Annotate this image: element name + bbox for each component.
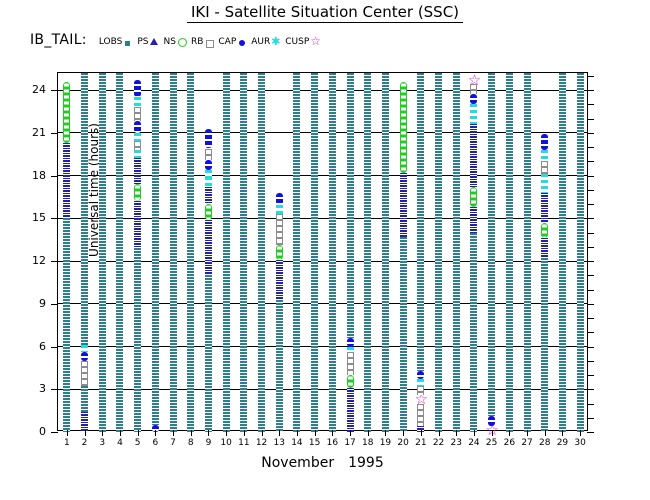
x-tick xyxy=(421,430,422,436)
x-tick-label: 25 xyxy=(484,438,500,448)
x-tick-label: 18 xyxy=(360,438,376,448)
day-column xyxy=(453,73,460,430)
x-tick xyxy=(474,430,475,436)
marker-cusp: ☆ xyxy=(467,74,481,86)
day-column xyxy=(63,73,70,430)
segment-lobs xyxy=(152,73,159,425)
x-axis-month: November xyxy=(261,455,334,471)
legend-label: NS xyxy=(163,38,175,47)
x-tick xyxy=(332,430,333,436)
day-column: ☆ xyxy=(488,73,495,430)
segment-lobs xyxy=(258,73,265,432)
y-tick xyxy=(51,133,58,134)
segment-lobs xyxy=(417,73,424,371)
segment-aur xyxy=(134,97,141,107)
day-column xyxy=(382,73,389,430)
segment-lobs xyxy=(293,73,300,432)
x-axis-title: November1995 xyxy=(57,455,588,471)
x-tick xyxy=(545,430,546,436)
segment-ns xyxy=(400,82,407,173)
segment-lobs xyxy=(223,73,230,432)
segment-lobs xyxy=(240,73,247,432)
x-tick xyxy=(279,430,280,436)
x-tick xyxy=(403,430,404,436)
x-tick-label: 16 xyxy=(324,438,340,448)
segment-cap xyxy=(205,129,212,149)
y-minor-tick xyxy=(587,161,594,162)
x-tick xyxy=(385,430,386,436)
segment-ps xyxy=(205,187,212,204)
x-tick xyxy=(368,430,369,436)
day-column xyxy=(524,73,531,430)
star-outline-icon: ☆ xyxy=(310,36,321,47)
y-tick-label: 21 xyxy=(6,126,46,139)
segment-cap xyxy=(541,134,548,150)
y-tick xyxy=(51,347,58,348)
x-tick xyxy=(226,430,227,436)
segment-ns xyxy=(470,187,477,207)
segment-aur xyxy=(81,345,88,352)
segment-ns xyxy=(63,82,70,143)
x-tick xyxy=(173,430,174,436)
segment-ps xyxy=(541,193,548,223)
legend-label: LOBS xyxy=(99,38,123,47)
segment-lobs xyxy=(435,73,442,432)
x-tick xyxy=(562,430,563,436)
segment-lobs xyxy=(364,73,371,432)
segment-lobs xyxy=(400,237,407,432)
y-tick-label: 12 xyxy=(6,254,46,267)
segment-rb xyxy=(134,107,141,121)
day-column xyxy=(240,73,247,430)
segment-ps xyxy=(470,124,477,187)
segment-ps xyxy=(63,143,70,219)
day-column xyxy=(187,73,194,430)
x-tick xyxy=(580,430,581,436)
triangle-icon xyxy=(149,36,160,47)
legend-item-cap: CAP xyxy=(218,36,248,47)
day-column: ☆ xyxy=(417,73,424,430)
day-column xyxy=(541,73,548,430)
segment-aur xyxy=(205,170,212,177)
day-column xyxy=(81,73,88,430)
x-tick-label: 4 xyxy=(112,438,128,448)
segment-cap xyxy=(488,416,495,426)
day-column xyxy=(577,73,584,430)
day-column xyxy=(152,73,159,430)
x-tick-label: 14 xyxy=(289,438,305,448)
x-tick-label: 7 xyxy=(165,438,181,448)
segment-ns xyxy=(541,223,548,239)
segment-aur xyxy=(347,347,354,353)
y-minor-tick xyxy=(587,76,594,77)
x-tick-label: 20 xyxy=(395,438,411,448)
segment-cap xyxy=(276,193,283,206)
y-tick-right xyxy=(587,176,594,177)
segment-rb xyxy=(81,361,88,387)
segment-lobs xyxy=(506,73,513,432)
x-tick xyxy=(138,430,139,436)
x-tick-label: 17 xyxy=(342,438,358,448)
x-tick xyxy=(155,430,156,436)
x-tick-label: 22 xyxy=(431,438,447,448)
segment-lobs xyxy=(81,73,88,345)
segment-lobs xyxy=(134,248,141,432)
legend-item-lobs: LOBS xyxy=(99,36,135,47)
x-tick-label: 27 xyxy=(519,438,535,448)
y-minor-tick xyxy=(587,290,594,291)
x-tick xyxy=(102,430,103,436)
x-tick-label: 26 xyxy=(501,438,517,448)
y-tick-label: 9 xyxy=(6,297,46,310)
x-tick xyxy=(350,430,351,436)
segment-lobs xyxy=(347,73,354,338)
x-axis-year: 1995 xyxy=(348,455,384,471)
y-minor-tick xyxy=(587,404,594,405)
y-tick-right xyxy=(587,304,594,305)
segment-ps xyxy=(400,173,407,237)
day-column xyxy=(311,73,318,430)
x-tick-label: 8 xyxy=(183,438,199,448)
x-tick-label: 6 xyxy=(147,438,163,448)
legend-label: PS xyxy=(137,38,148,47)
x-tick xyxy=(509,430,510,436)
day-column xyxy=(293,73,300,430)
legend-label: CAP xyxy=(218,38,236,47)
y-tick xyxy=(51,389,58,390)
x-tick xyxy=(67,430,68,436)
y-tick-right xyxy=(587,261,594,262)
segment-aur xyxy=(470,104,477,124)
x-tick xyxy=(120,430,121,436)
x-tick xyxy=(297,430,298,436)
day-column xyxy=(99,73,106,430)
segment-ps xyxy=(134,201,141,248)
y-minor-tick xyxy=(587,104,594,105)
y-minor-tick xyxy=(587,361,594,362)
segment-lobs xyxy=(187,73,194,432)
x-tick xyxy=(439,430,440,436)
segment-rb xyxy=(347,352,354,375)
segment-ns xyxy=(205,204,212,220)
segment-lobs xyxy=(453,73,460,432)
legend-label: RB xyxy=(191,38,203,47)
segment-lobs xyxy=(488,73,495,416)
filled-square-icon xyxy=(123,36,134,47)
legend-item-aur: AUR✱ xyxy=(251,36,282,47)
segment-ns xyxy=(347,375,354,388)
y-minor-tick xyxy=(587,190,594,191)
day-column xyxy=(170,73,177,430)
day-column xyxy=(116,73,123,430)
segment-rb xyxy=(417,386,424,395)
legend-item-ns: NS xyxy=(163,36,187,47)
x-tick xyxy=(315,430,316,436)
page-title: IKI - Satellite Situation Center (SSC) xyxy=(0,3,650,21)
segment-ps xyxy=(470,207,477,233)
segment-aur xyxy=(134,133,141,142)
segment-cap xyxy=(205,160,212,170)
y-tick-label: 3 xyxy=(6,382,46,395)
asterisk-icon: ✱ xyxy=(271,36,282,47)
filled-circle-icon xyxy=(237,36,248,47)
plot-area: 03691215182124Universal time (hours)1234… xyxy=(57,72,588,431)
legend-label: AUR xyxy=(251,38,270,47)
x-tick-label: 13 xyxy=(271,438,287,448)
segment-cap xyxy=(81,352,88,361)
segment-aur xyxy=(541,174,548,193)
x-tick-label: 23 xyxy=(448,438,464,448)
chart-root: IKI - Satellite Situation Center (SSC) I… xyxy=(0,0,650,500)
day-column xyxy=(258,73,265,430)
x-tick-label: 29 xyxy=(554,438,570,448)
segment-lobs xyxy=(559,73,566,432)
y-tick xyxy=(51,218,58,219)
segment-lobs xyxy=(63,218,70,432)
x-tick xyxy=(527,430,528,436)
y-tick-right xyxy=(587,133,594,134)
y-minor-tick xyxy=(587,119,594,120)
segment-cap xyxy=(470,94,477,104)
page-title-text: IKI - Satellite Situation Center (SSC) xyxy=(187,3,463,23)
segment-ps xyxy=(541,238,548,258)
x-tick-label: 28 xyxy=(537,438,553,448)
x-tick-label: 11 xyxy=(236,438,252,448)
x-tick-label: 2 xyxy=(77,438,93,448)
segment-lobs xyxy=(524,73,531,432)
x-tick-label: 19 xyxy=(377,438,393,448)
x-tick xyxy=(492,430,493,436)
day-column xyxy=(329,73,336,430)
y-tick-label: 0 xyxy=(6,425,46,438)
y-tick-right xyxy=(587,389,594,390)
segment-ps xyxy=(205,220,212,276)
segment-rb xyxy=(541,161,548,174)
x-tick-label: 9 xyxy=(200,438,216,448)
segment-cap xyxy=(417,371,424,380)
y-tick-label: 18 xyxy=(6,169,46,182)
day-column: ☆ xyxy=(470,73,477,430)
y-tick-label: 15 xyxy=(6,211,46,224)
x-tick-label: 10 xyxy=(218,438,234,448)
legend-title: IB_TAIL: xyxy=(30,33,87,47)
legend-label: CUSP xyxy=(285,38,309,47)
day-column xyxy=(276,73,283,430)
legend: IB_TAIL: LOBSPSNSRBCAPAUR✱CUSP☆ xyxy=(30,33,324,47)
segment-cap xyxy=(347,338,354,347)
segment-lobs xyxy=(541,258,548,432)
x-tick-label: 12 xyxy=(254,438,270,448)
x-tick xyxy=(208,430,209,436)
segment-rb xyxy=(276,214,283,245)
x-tick-label: 24 xyxy=(466,438,482,448)
legend-item-cusp: CUSP☆ xyxy=(285,36,321,47)
y-minor-tick xyxy=(587,375,594,376)
day-column xyxy=(223,73,230,430)
y-tick-right xyxy=(587,432,594,433)
y-minor-tick xyxy=(587,204,594,205)
square-outline-icon xyxy=(204,36,215,47)
y-tick xyxy=(51,176,58,177)
segment-lobs xyxy=(470,233,477,432)
segment-lobs xyxy=(382,73,389,432)
y-minor-tick xyxy=(587,318,594,319)
x-tick-label: 5 xyxy=(130,438,146,448)
legend-item-ps: PS xyxy=(137,36,160,47)
x-tick xyxy=(244,430,245,436)
y-minor-tick xyxy=(587,147,594,148)
segment-aur xyxy=(417,379,424,386)
day-column xyxy=(506,73,513,430)
segment-lobs xyxy=(577,73,584,432)
y-tick xyxy=(51,261,58,262)
segment-ps xyxy=(276,260,283,300)
day-column xyxy=(400,73,407,430)
x-tick xyxy=(85,430,86,436)
circle-outline-icon xyxy=(177,36,188,47)
segment-lobs xyxy=(276,300,283,432)
segment-lobs xyxy=(99,73,106,432)
segment-lobs xyxy=(329,73,336,432)
segment-cap xyxy=(134,80,141,97)
y-tick xyxy=(51,304,58,305)
y-minor-tick xyxy=(587,233,594,234)
segment-cap xyxy=(134,121,141,132)
y-tick xyxy=(51,90,58,91)
segment-aur xyxy=(134,150,141,159)
y-minor-tick xyxy=(587,247,594,248)
segment-lobs xyxy=(81,386,88,412)
segment-ps xyxy=(81,412,88,432)
segment-ns xyxy=(134,184,141,201)
y-minor-tick xyxy=(587,418,594,419)
legend-item-rb: RB xyxy=(191,36,215,47)
segment-lobs xyxy=(205,275,212,432)
day-column xyxy=(347,73,354,430)
y-tick-right xyxy=(587,90,594,91)
y-minor-tick xyxy=(587,275,594,276)
x-tick-label: 30 xyxy=(572,438,588,448)
y-tick xyxy=(51,432,58,433)
segment-aur xyxy=(541,150,548,161)
x-tick-label: 1 xyxy=(59,438,75,448)
day-column xyxy=(205,73,212,430)
segment-rb xyxy=(205,149,212,160)
y-tick-right xyxy=(587,347,594,348)
y-tick-label: 24 xyxy=(6,83,46,96)
segment-lobs xyxy=(170,73,177,432)
day-column xyxy=(435,73,442,430)
segment-lobs xyxy=(116,73,123,432)
segment-ps xyxy=(134,158,141,184)
segment-ps xyxy=(347,388,354,432)
x-tick-label: 3 xyxy=(94,438,110,448)
segment-lobs xyxy=(311,73,318,432)
day-column xyxy=(364,73,371,430)
y-tick-right xyxy=(587,218,594,219)
x-tick xyxy=(456,430,457,436)
day-column xyxy=(134,73,141,430)
segment-rb xyxy=(134,141,141,150)
segment-aur xyxy=(276,205,283,214)
day-column xyxy=(559,73,566,430)
legend-items: LOBSPSNSRBCAPAUR✱CUSP☆ xyxy=(99,36,324,47)
x-tick xyxy=(191,430,192,436)
x-tick-label: 21 xyxy=(413,438,429,448)
y-tick-label: 6 xyxy=(6,340,46,353)
x-tick-label: 15 xyxy=(307,438,323,448)
segment-ns xyxy=(276,245,283,259)
segment-aur xyxy=(205,177,212,187)
x-tick xyxy=(262,430,263,436)
y-minor-tick xyxy=(587,332,594,333)
